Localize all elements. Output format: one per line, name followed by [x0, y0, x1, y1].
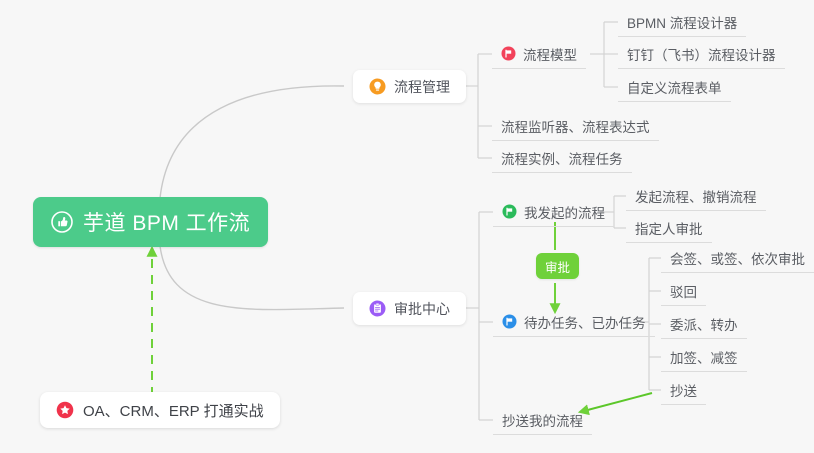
- node-label: 流程监听器、流程表达式: [501, 116, 650, 136]
- node-delegate-transfer[interactable]: 委派、转办: [661, 309, 747, 339]
- node-multi-sign[interactable]: 会签、或签、依次审批: [661, 243, 814, 273]
- node-label: BPMN 流程设计器: [627, 12, 737, 32]
- root-label: 芋道 BPM 工作流: [83, 207, 250, 237]
- node-cc[interactable]: 抄送: [661, 375, 706, 405]
- node-todo-done-tasks[interactable]: 待办任务、已办任务: [493, 307, 655, 337]
- node-label: 抄送我的流程: [502, 410, 583, 430]
- flag-icon: [502, 314, 517, 329]
- branch-label: 审批中心: [394, 299, 450, 319]
- node-custom-process-form[interactable]: 自定义流程表单: [618, 72, 731, 102]
- link-root-to-process-management: [160, 86, 344, 198]
- flag-icon: [502, 204, 517, 219]
- root-node[interactable]: 芋道 BPM 工作流: [33, 197, 268, 247]
- node-dingtalk-feishu-designer[interactable]: 钉钉（飞书）流程设计器: [618, 39, 785, 69]
- thumbs-up-icon: [51, 211, 73, 233]
- node-label: 指定人审批: [635, 218, 703, 238]
- node-label: 发起流程、撤销流程: [635, 186, 757, 206]
- star-icon: [56, 401, 74, 419]
- branch-node-approval-center[interactable]: 审批中心: [353, 292, 466, 325]
- annotation-label: 审批: [545, 257, 570, 276]
- flag-icon: [501, 46, 516, 61]
- node-label: 委派、转办: [670, 314, 738, 334]
- branch-node-process-management[interactable]: 流程管理: [353, 70, 466, 103]
- node-reject[interactable]: 驳回: [661, 276, 706, 306]
- clipboard-icon: [369, 300, 386, 317]
- link-root-to-approval-center: [160, 246, 344, 310]
- pin-lightbulb-icon: [369, 78, 386, 95]
- node-label: 会签、或签、依次审批: [670, 248, 805, 268]
- node-assignee-approval[interactable]: 指定人审批: [626, 213, 712, 243]
- node-label: 我发起的流程: [524, 202, 605, 222]
- node-label: 流程实例、流程任务: [501, 148, 623, 168]
- node-cc-to-me[interactable]: 抄送我的流程: [493, 405, 592, 435]
- node-label: 驳回: [670, 281, 697, 301]
- node-label: 钉钉（飞书）流程设计器: [627, 44, 776, 64]
- node-process-listener[interactable]: 流程监听器、流程表达式: [492, 111, 659, 141]
- node-process-instance[interactable]: 流程实例、流程任务: [492, 143, 632, 173]
- bottom-card-label: OA、CRM、ERP 打通实战: [83, 400, 264, 421]
- node-label: 自定义流程表单: [627, 77, 722, 97]
- node-start-cancel[interactable]: 发起流程、撤销流程: [626, 181, 766, 211]
- annotation-badge-approve: 审批: [536, 253, 579, 279]
- node-process-model[interactable]: 流程模型: [492, 39, 586, 69]
- node-label: 待办任务、已办任务: [524, 312, 646, 332]
- mindmap-canvas: 芋道 BPM 工作流 流程管理 流程模型 BPMN 流程设计器 钉钉（飞书）流程…: [0, 0, 814, 453]
- node-add-remove-sign[interactable]: 加签、减签: [661, 342, 747, 372]
- bottom-card-integration[interactable]: OA、CRM、ERP 打通实战: [40, 392, 280, 428]
- node-bpmn-designer[interactable]: BPMN 流程设计器: [618, 7, 746, 37]
- node-label: 流程模型: [523, 44, 577, 64]
- branch-label: 流程管理: [394, 77, 450, 97]
- node-label: 加签、减签: [670, 347, 738, 367]
- node-label: 抄送: [670, 380, 697, 400]
- node-my-initiated[interactable]: 我发起的流程: [493, 197, 614, 227]
